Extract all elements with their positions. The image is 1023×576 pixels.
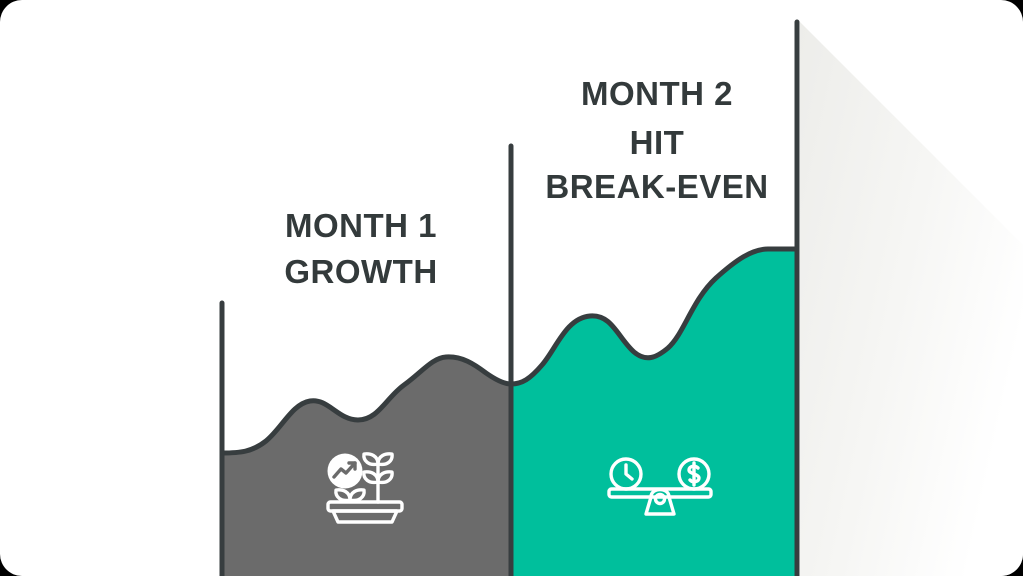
month2-title: MONTH 2 xyxy=(581,75,733,112)
growth-area-series xyxy=(222,357,511,576)
breakeven-area-fill xyxy=(511,249,797,576)
breakeven-area-series xyxy=(511,249,797,576)
infographic-card: MONTH 1 GROWTH MONTH 2 HIT BREAK-EVEN xyxy=(0,0,1023,576)
growth-area-fill xyxy=(222,357,511,576)
month1-label-block: MONTH 1 GROWTH xyxy=(208,206,514,291)
month1-title: MONTH 1 xyxy=(285,207,437,244)
month2-line3: BREAK-EVEN xyxy=(512,167,802,207)
right-axis-drop-shadow xyxy=(800,22,1023,576)
month2-line2: HIT xyxy=(512,123,802,163)
month1-subtitle: GROWTH xyxy=(208,252,514,292)
month2-label-block: MONTH 2 HIT BREAK-EVEN xyxy=(512,74,802,207)
